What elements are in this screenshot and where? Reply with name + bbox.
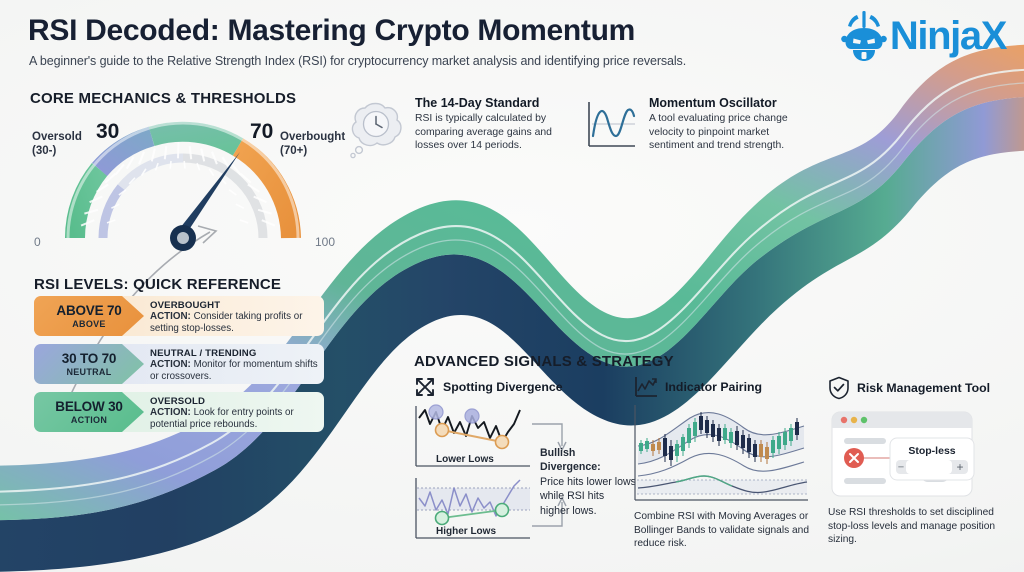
advanced-signals-heading: ADVANCED SIGNALS & STRATEGY — [414, 353, 674, 370]
gauge-band-oversold — [75, 169, 100, 238]
candlestick-bollinger-chart — [632, 404, 812, 506]
callout-title: Bullish Divergence: — [540, 447, 601, 473]
ninja-helmet-icon — [841, 10, 887, 62]
price-low-marker-2 — [496, 436, 509, 449]
bullish-divergence-callout: Bullish Divergence: Price hits lower low… — [540, 446, 636, 518]
stepper-thumb[interactable] — [906, 460, 952, 474]
info-card-heading: The 14-Day Standard — [415, 96, 560, 110]
info-card-14-day: The 14-Day Standard RSI is typically cal… — [345, 96, 560, 153]
stop-loss-tooltip-label: Stop-less — [908, 445, 955, 457]
callout-arrow-top — [532, 424, 562, 446]
row-status: OVERBOUGHT — [150, 300, 318, 311]
panel-header-divergence: Spotting Divergence — [414, 376, 563, 398]
panel-header-indicator: Indicator Pairing — [634, 376, 762, 398]
row-tag: NEUTRAL — [66, 367, 111, 377]
info-card-oscillator: Momentum Oscillator A tool evaluating pr… — [585, 96, 800, 153]
row-range: BELOW 30 — [55, 399, 122, 414]
mockup-placeholder-line-1 — [844, 438, 886, 444]
gauge-hub-center — [177, 232, 189, 244]
quick-reference-row-overbought[interactable]: ABOVE 70 ABOVE OVERBOUGHT ACTION: Consid… — [34, 296, 324, 336]
panel-title: Indicator Pairing — [665, 380, 762, 394]
oscillator-chart-icon — [585, 100, 641, 152]
panel-title: Spotting Divergence — [443, 380, 563, 394]
row-range: 30 TO 70 — [62, 351, 116, 366]
gauge-max-label: 100 — [315, 235, 335, 249]
row-text: OVERBOUGHT ACTION: Consider taking profi… — [150, 300, 318, 336]
rsi-gauge: Oversold (30-) Overbought (70+) 30 70 0 … — [18, 108, 348, 258]
row-text: NEUTRAL / TRENDING ACTION: Monitor for m… — [150, 348, 318, 384]
row-action: ACTION: Monitor for momentum shifts or c… — [150, 359, 318, 384]
row-chevron: ABOVE 70 ABOVE — [34, 296, 144, 336]
expand-arrows-icon — [414, 376, 436, 398]
row-action: ACTION: Look for entry points or potenti… — [150, 407, 318, 432]
gauge-min-label: 0 — [34, 235, 41, 249]
gauge-inner-band-1 — [103, 187, 121, 238]
lower-lows-label: Lower Lows — [436, 454, 494, 465]
stepper-minus-label: − — [898, 462, 904, 474]
thought-cloud-clock-icon — [345, 98, 407, 160]
quick-reference-heading: RSI LEVELS: QUICK REFERENCE — [34, 276, 281, 293]
row-status: OVERSOLD — [150, 396, 318, 407]
shield-check-icon — [828, 376, 850, 400]
core-mechanics-heading: CORE MECHANICS & THRESHOLDS — [30, 90, 296, 107]
row-action: ACTION: Consider taking profits or setti… — [150, 311, 318, 336]
stepper-plus-label: + — [956, 460, 963, 474]
page-title: RSI Decoded: Mastering Crypto Momentum — [28, 14, 635, 48]
logo-wordmark: NinjaX — [890, 16, 1006, 56]
gauge-label-overbought: Overbought (70+) — [280, 130, 345, 159]
row-range: ABOVE 70 — [56, 303, 121, 318]
gauge-band-neutral-high — [152, 132, 238, 147]
gauge-inner-band-3 — [183, 158, 263, 238]
info-card-body: A tool evaluating price change velocity … — [649, 112, 800, 153]
gauge-threshold-30: 30 — [96, 120, 119, 144]
indicator-pairing-caption: Combine RSI with Moving Averages or Boll… — [634, 510, 818, 551]
rsi-low-marker-1 — [436, 512, 449, 525]
row-chevron: 30 TO 70 NEUTRAL — [34, 344, 144, 384]
rsi-chart: Higher Lows — [416, 478, 530, 538]
window-maximize-dot[interactable] — [861, 417, 867, 423]
mockup-placeholder-line-2 — [844, 478, 886, 484]
row-action-label: ACTION: — [150, 311, 191, 322]
stop-loss-mockup: Stop-less − + — [828, 406, 988, 502]
page-subtitle: A beginner's guide to the Relative Stren… — [29, 54, 686, 68]
quick-reference-row-oversold[interactable]: BELOW 30 ACTION OVERSOLD ACTION: Look fo… — [34, 392, 324, 432]
gauge-threshold-70: 70 — [250, 120, 273, 144]
row-chevron: BELOW 30 ACTION — [34, 392, 144, 432]
row-status: NEUTRAL / TRENDING — [150, 348, 318, 359]
rsi-subplot — [637, 476, 807, 494]
price-peak-marker-1 — [429, 405, 443, 419]
panel-title: Risk Management Tool — [857, 381, 990, 395]
quick-reference-row-neutral[interactable]: 30 TO 70 NEUTRAL NEUTRAL / TRENDING ACTI… — [34, 344, 324, 384]
row-tag: ABOVE — [72, 319, 106, 329]
row-tag: ACTION — [71, 415, 107, 425]
row-action-label: ACTION: — [150, 359, 191, 370]
window-minimize-dot[interactable] — [851, 417, 857, 423]
price-low-marker-1 — [436, 424, 449, 437]
window-close-dot[interactable] — [841, 417, 847, 423]
brand-logo[interactable]: NinjaX — [841, 10, 1006, 62]
info-card-body: RSI is typically calculated by comparing… — [415, 112, 560, 153]
row-text: OVERSOLD ACTION: Look for entry points o… — [150, 396, 318, 432]
row-action-label: ACTION: — [150, 407, 191, 418]
line-chart-up-icon — [634, 376, 658, 398]
price-chart: Lower Lows — [416, 405, 530, 466]
panel-header-risk: Risk Management Tool — [828, 376, 990, 400]
higher-lows-label: Higher Lows — [436, 526, 496, 537]
gauge-label-oversold: Oversold (30-) — [32, 130, 82, 159]
risk-management-caption: Use RSI thresholds to set disciplined st… — [828, 506, 1004, 547]
info-card-heading: Momentum Oscillator — [649, 96, 800, 110]
price-peak-marker-2 — [465, 409, 479, 423]
infographic-canvas: RSI Decoded: Mastering Crypto Momentum A… — [0, 0, 1024, 572]
rsi-low-marker-2 — [496, 504, 509, 517]
callout-body: Price hits lower lows while RSI hits hig… — [540, 476, 636, 517]
